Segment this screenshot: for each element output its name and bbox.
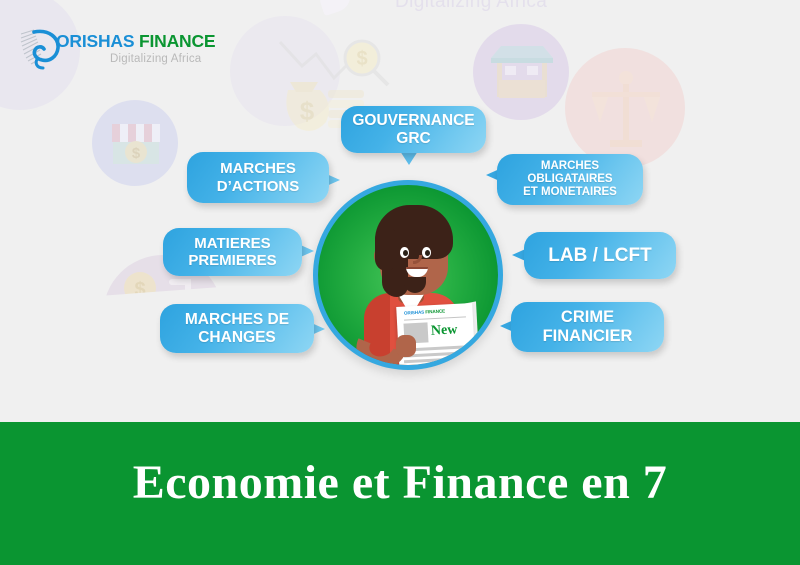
newspaper-masthead-orishas: ORISHAS (404, 310, 424, 316)
scales-of-justice-icon (586, 70, 666, 152)
svg-text:$: $ (132, 145, 141, 162)
avatar-disc: ORISHAS FINANCE New (318, 185, 498, 365)
logo-word-orishas: ORISHAS (56, 31, 134, 51)
newspaper-headline: New (431, 322, 458, 339)
logo-wordmark: ORISHAS FINANCE (56, 31, 215, 52)
watermark-swirl-icon (317, 0, 354, 16)
page-title: Economie et Finance en 7 (0, 455, 800, 510)
shop-icon: $ (110, 122, 162, 166)
svg-text:$: $ (356, 48, 367, 70)
character-hair-side (375, 229, 395, 271)
market-stall-icon (489, 42, 555, 104)
bubble-matieres-premieres[interactable]: MATIERES PREMIERES (163, 228, 302, 276)
character-pupil-right (425, 250, 430, 256)
bubble-marches-de-changes[interactable]: MARCHES DE CHANGES (160, 304, 314, 353)
logo-tagline: Digitalizing Africa (110, 53, 201, 65)
character-brow-right (420, 240, 433, 245)
bubble-marches-obligataires[interactable]: MARCHES OBLIGATAIRES ET MONETAIRES (497, 154, 643, 205)
bubble-lab-lcft[interactable]: LAB / LCFT (524, 232, 676, 279)
bubble-crime-financier[interactable]: CRIME FINANCIER (511, 302, 664, 352)
watermark-tagline: Digitalizing Africa (395, 0, 547, 13)
character-hand (396, 335, 416, 357)
bubble-marches-actions[interactable]: MARCHES D’ACTIONS (187, 152, 329, 203)
bubble-gouvernance-grc[interactable]: GOUVERNANCE GRC (341, 106, 486, 153)
logo-word-finance: FINANCE (139, 31, 215, 51)
character-pupil-left (403, 250, 408, 256)
newspaper-masthead-finance: FINANCE (425, 308, 445, 314)
bubble-tail-gouvernance (400, 151, 418, 165)
infographic-canvas: $ $ $ (0, 0, 800, 565)
logo[interactable]: ORISHAS FINANCE Digitalizing Africa (18, 26, 228, 74)
avatar-ring: ORISHAS FINANCE New (313, 180, 503, 370)
svg-text:$: $ (300, 96, 315, 126)
